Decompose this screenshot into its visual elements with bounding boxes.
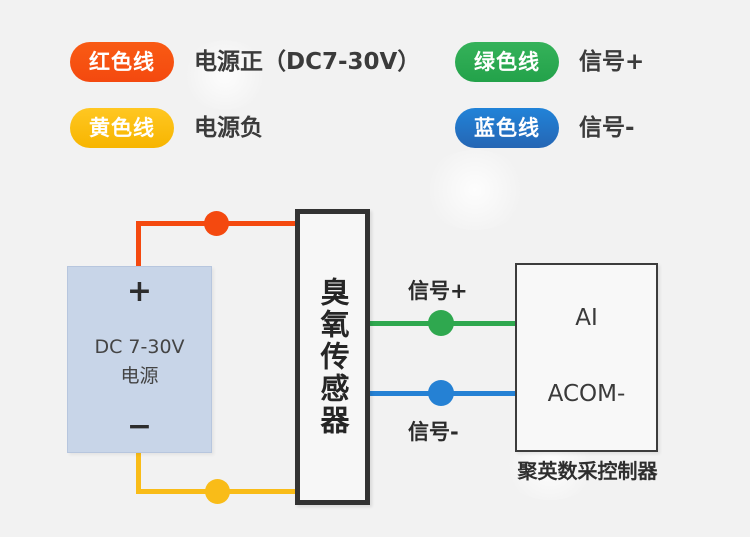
power-negative-terminal: − [68, 412, 211, 442]
legend-item-red-wire: 红色线 电源正（DC7-30V） [70, 42, 420, 82]
wire-red-vertical [136, 221, 141, 271]
power-supply-name: 电源 [68, 362, 211, 391]
ozone-sensor-box: 臭氧传感器 [295, 209, 370, 505]
wire-node-red [204, 211, 229, 236]
legend-label-blue: 信号- [579, 117, 635, 140]
controller-terminal-ai: AI [517, 307, 656, 330]
legend-pill-red: 红色线 [70, 42, 174, 82]
legend-pill-blue: 蓝色线 [455, 108, 559, 148]
legend-item-green-wire: 绿色线 信号+ [455, 42, 644, 82]
power-supply-box: + DC 7-30V 电源 − [67, 266, 212, 453]
power-supply-label: DC 7-30V 电源 [68, 333, 211, 392]
legend-pill-green: 绿色线 [455, 42, 559, 82]
wire-node-yellow [205, 479, 230, 504]
watermark-blob [420, 150, 530, 230]
power-positive-terminal: + [68, 277, 211, 307]
power-supply-voltage: DC 7-30V [68, 333, 211, 362]
controller-box: AI ACOM- [515, 263, 658, 452]
controller-caption: 聚英数采控制器 [495, 461, 680, 481]
wire-label-signal-plus: 信号+ [408, 281, 468, 302]
diagram-canvas: 红色线 电源正（DC7-30V） 黄色线 电源负 绿色线 信号+ 蓝色线 信号-… [0, 0, 750, 537]
wire-node-green [428, 310, 454, 336]
ozone-sensor-label: 臭氧传感器 [318, 277, 347, 437]
legend-item-blue-wire: 蓝色线 信号- [455, 108, 635, 148]
controller-terminal-acom: ACOM- [517, 383, 656, 406]
wire-yellow-vertical [136, 450, 141, 494]
legend-label-green: 信号+ [579, 51, 644, 74]
wire-node-blue [428, 380, 454, 406]
legend-pill-yellow: 黄色线 [70, 108, 174, 148]
legend-item-yellow-wire: 黄色线 电源负 [70, 108, 263, 148]
wire-label-signal-minus: 信号- [408, 422, 459, 443]
legend-label-red: 电源正（DC7-30V） [194, 51, 420, 74]
legend-label-yellow: 电源负 [194, 117, 263, 140]
